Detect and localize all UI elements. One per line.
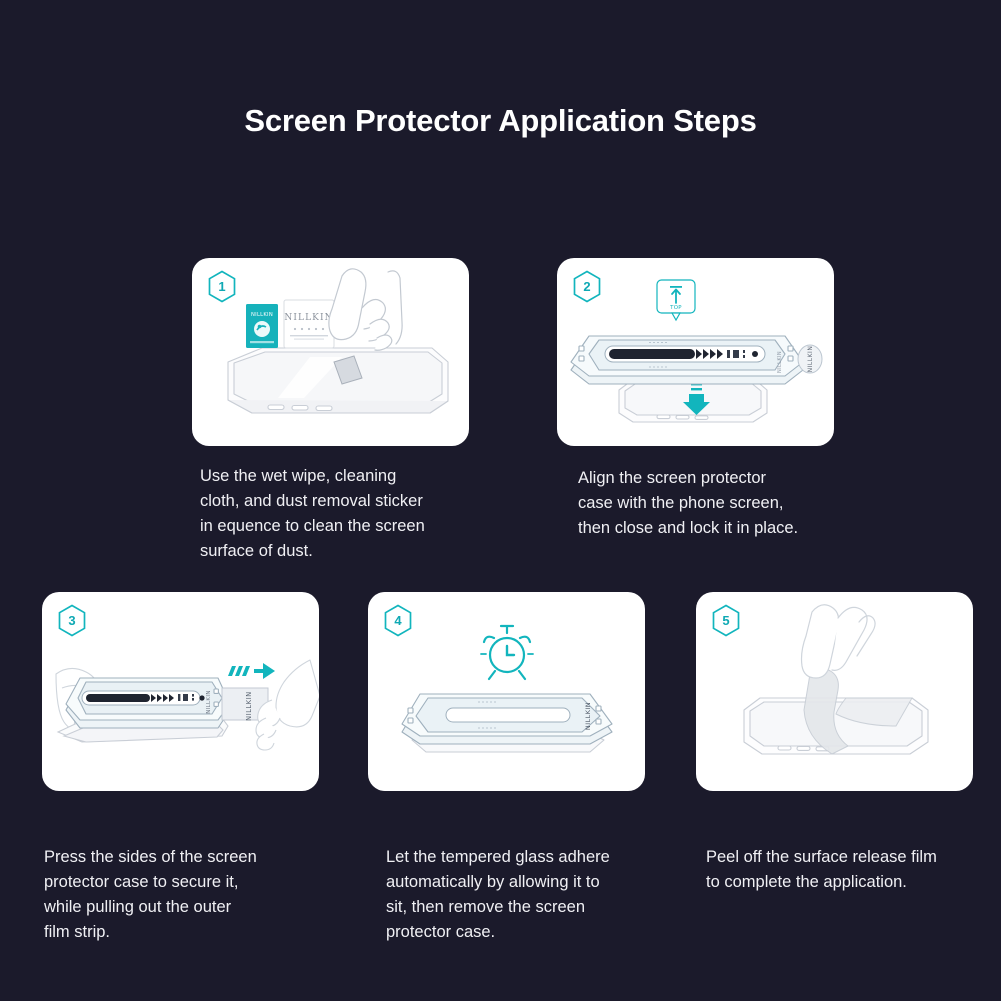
svg-text:NILLKIN: NILLKIN (251, 312, 273, 318)
svg-text:NILLKIN: NILLKIN (807, 346, 814, 373)
step-badge-3: 3 (57, 604, 87, 637)
page-title: Screen Protector Application Steps (0, 103, 1001, 139)
svg-text:NILLKIN: NILLKIN (206, 690, 212, 714)
step-number-4: 4 (383, 604, 413, 637)
step-badge-1: 1 (207, 270, 237, 303)
step-card-5: 5 (696, 592, 973, 791)
svg-text:NILLKIN: NILLKIN (245, 691, 253, 721)
step-card-2: TOP (557, 258, 834, 446)
step-number-2: 2 (572, 270, 602, 303)
step-caption-1: Use the wet wipe, cleaning cloth, and du… (200, 464, 500, 564)
svg-text:NILLKIN: NILLKIN (284, 313, 333, 323)
step-badge-2: 2 (572, 270, 602, 303)
step-number-5: 5 (711, 604, 741, 637)
step-caption-5: Peel off the surface release film to com… (706, 845, 1001, 895)
step-card-4: NILLKIN 4 (368, 592, 645, 791)
svg-text:TOP: TOP (669, 305, 682, 311)
step-card-1: NILLKIN NILLKIN (192, 258, 469, 446)
step-caption-2: Align the screen protector case with the… (578, 466, 868, 541)
instruction-poster: Screen Protector Application Steps (0, 0, 1001, 1001)
svg-text:NILLKIN: NILLKIN (777, 351, 783, 373)
step-number-3: 3 (57, 604, 87, 637)
step-caption-4: Let the tempered glass adhere automatica… (386, 845, 686, 945)
step-number-1: 1 (207, 270, 237, 303)
svg-text:NILLKIN: NILLKIN (584, 702, 592, 730)
step-badge-5: 5 (711, 604, 741, 637)
step-card-3: NILLKIN NILLKIN (42, 592, 319, 791)
step-caption-3: Press the sides of the screen protector … (44, 845, 344, 945)
step-badge-4: 4 (383, 604, 413, 637)
